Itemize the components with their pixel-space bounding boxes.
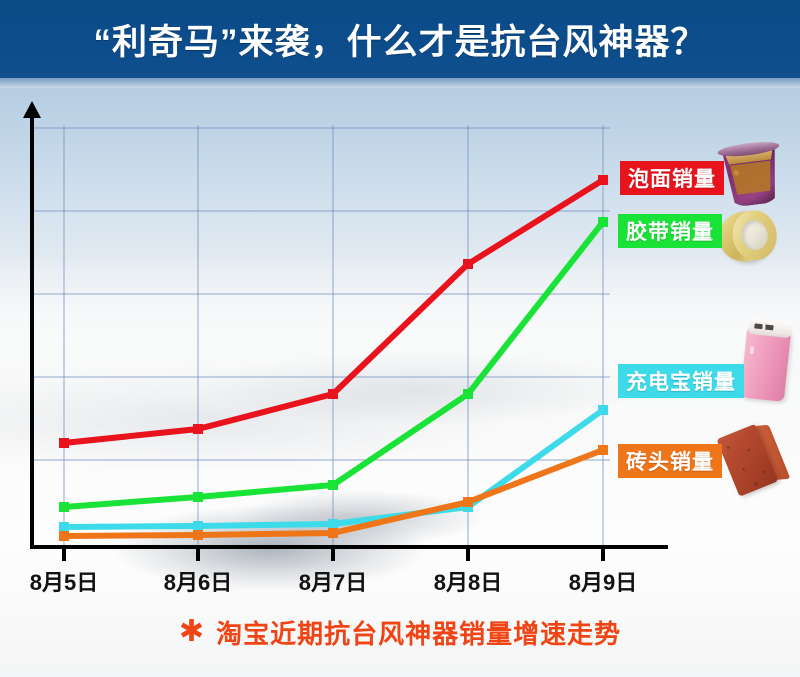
legend-label-instant-noodles: 泡面销量 <box>628 163 716 193</box>
legend-item-power-bank[interactable]: 充电宝销量 <box>618 364 744 398</box>
data-point-marker[interactable] <box>59 522 69 532</box>
data-point-marker[interactable] <box>193 530 203 540</box>
x-axis-label: 8月8日 <box>434 570 502 595</box>
data-point-marker[interactable] <box>463 389 473 399</box>
x-axis-label: 8月6日 <box>164 570 232 595</box>
legend-item-tape[interactable]: 胶带销量 <box>618 214 722 248</box>
chart-gridlines <box>32 128 610 460</box>
caption-text: 淘宝近期抗台风神器销量增速走势 <box>216 614 621 651</box>
chart-x-axis-labels: 8月5日8月6日8月7日8月8日8月9日 <box>30 570 637 595</box>
data-point-marker[interactable] <box>59 502 69 512</box>
data-point-marker[interactable] <box>598 405 608 415</box>
data-point-marker[interactable] <box>193 424 203 434</box>
chart-x-ticks <box>64 547 603 561</box>
data-point-marker[interactable] <box>328 528 338 538</box>
x-axis-label: 8月9日 <box>569 570 637 595</box>
asterisk-icon: ✱ <box>179 617 204 647</box>
chart-caption: ✱ 淘宝近期抗台风神器销量增速走势 <box>0 608 800 656</box>
tape-roll-icon <box>715 205 782 271</box>
line-chart: 8月5日8月6日8月7日8月8日8月9日 <box>0 0 800 677</box>
legend-item-instant-noodles[interactable]: 泡面销量 <box>620 161 724 195</box>
data-point-marker[interactable] <box>193 521 203 531</box>
infographic-page: “利奇马”来袭，什么才是抗台风神器？ 8月5日8月6日8月7日8月8日8月9日 … <box>0 0 800 677</box>
y-axis-arrow-icon <box>23 101 41 118</box>
data-point-marker[interactable] <box>598 175 608 185</box>
page-title: “利奇马”来袭，什么才是抗台风神器？ <box>93 14 706 65</box>
legend-label-brick: 砖头销量 <box>626 446 714 476</box>
legend-label-power-bank: 充电宝销量 <box>626 366 736 396</box>
header-banner: “利奇马”来袭，什么才是抗台风神器？ <box>0 0 800 78</box>
data-point-marker[interactable] <box>59 531 69 541</box>
data-point-marker[interactable] <box>463 259 473 269</box>
x-axis-label: 8月7日 <box>299 570 367 595</box>
x-axis-label: 8月5日 <box>30 570 98 595</box>
power-bank-icon <box>740 316 797 405</box>
data-point-marker[interactable] <box>59 438 69 448</box>
data-point-marker[interactable] <box>598 217 608 227</box>
data-point-marker[interactable] <box>463 497 473 507</box>
data-point-marker[interactable] <box>328 389 338 399</box>
legend-label-tape: 胶带销量 <box>626 216 714 246</box>
data-point-marker[interactable] <box>328 480 338 490</box>
legend-item-brick[interactable]: 砖头销量 <box>618 444 722 478</box>
data-point-marker[interactable] <box>328 519 338 529</box>
data-point-marker[interactable] <box>598 445 608 455</box>
header-underline-divider <box>0 78 800 88</box>
data-point-marker[interactable] <box>193 492 203 502</box>
